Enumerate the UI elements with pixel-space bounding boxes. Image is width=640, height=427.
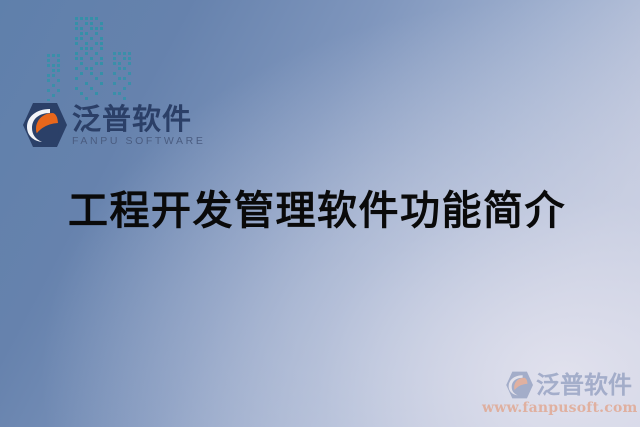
page-title: 工程开发管理软件功能简介 [68, 188, 566, 235]
brand-wordmark: 泛普软件 FANPU SOFTWARE [72, 104, 205, 147]
watermark-url: www.fanpusoft.com [482, 401, 632, 415]
fanpu-hexagon-watermark-icon [504, 371, 534, 399]
fanpu-hexagon-logo-icon [20, 102, 68, 148]
pixel-skyline-icon [45, 8, 141, 102]
brand-logo: 泛普软件 FANPU SOFTWARE [20, 102, 205, 148]
promo-banner: 泛普软件 FANPU SOFTWARE 工程开发管理软件功能简介 泛普软件 ww… [0, 0, 640, 427]
watermark: 泛普软件 www.fanpusoft.com [482, 371, 632, 415]
brand-name-cn: 泛普软件 [72, 104, 205, 134]
watermark-name: 泛普软件 [536, 373, 632, 397]
brand-name-en: FANPU SOFTWARE [72, 136, 205, 147]
watermark-brand-row: 泛普软件 [482, 371, 632, 399]
